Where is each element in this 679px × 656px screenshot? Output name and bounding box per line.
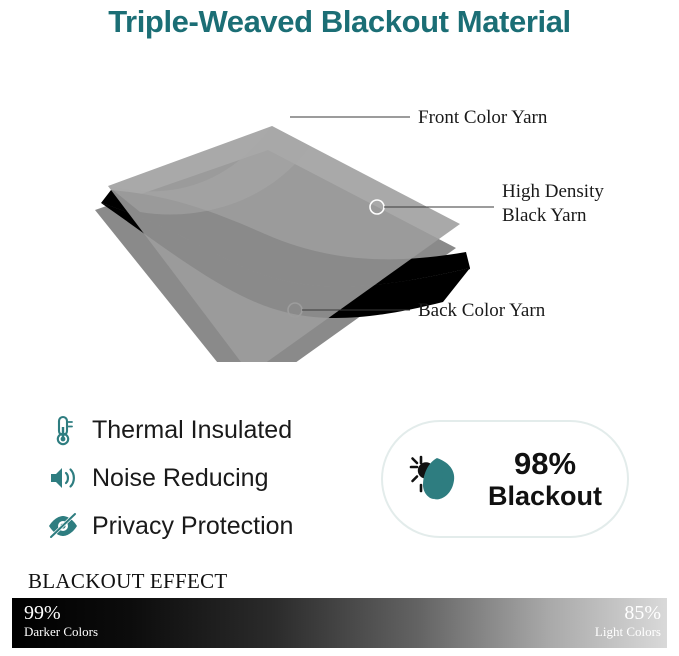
feature-thermal-insulated: Thermal Insulated	[46, 408, 396, 452]
right-sub-label: Light Colors	[595, 625, 661, 640]
fabric-layers-diagram: Front Color Yarn High Density Black Yarn…	[0, 62, 679, 362]
blackout-effect-left: 99% Darker Colors	[24, 602, 98, 640]
blackout-effect-gradient	[12, 598, 667, 648]
left-sub-label: Darker Colors	[24, 625, 98, 640]
blackout-badge-text: 98% Blackout	[479, 447, 627, 512]
feature-privacy-protection: Privacy Protection	[46, 504, 396, 548]
blackout-effect-right: 85% Light Colors	[595, 602, 661, 640]
page-title: Triple-Weaved Blackout Material	[0, 4, 679, 40]
feature-label: Privacy Protection	[92, 512, 293, 541]
left-percent: 99%	[24, 602, 98, 625]
callout-front	[276, 110, 410, 124]
thermometer-icon	[46, 413, 80, 447]
sun-blocked-icon	[405, 446, 471, 512]
feature-noise-reducing: Noise Reducing	[46, 456, 396, 500]
speaker-icon	[46, 461, 80, 495]
feature-label: Noise Reducing	[92, 464, 269, 493]
blackout-word: Blackout	[488, 481, 602, 511]
callout-label-front: Front Color Yarn	[418, 106, 547, 130]
callout-label-high-density: High Density Black Yarn	[502, 180, 604, 228]
blackout-percent: 98%	[514, 446, 576, 481]
eye-slash-icon	[46, 509, 80, 543]
callout-label-back: Back Color Yarn	[418, 299, 545, 323]
right-percent: 85%	[595, 602, 661, 625]
blackout-badge: 98% Blackout	[381, 420, 629, 538]
feature-label: Thermal Insulated	[92, 416, 292, 445]
feature-list: Thermal Insulated Noise Reducing Privacy…	[46, 408, 396, 552]
blackout-effect-title: BLACKOUT EFFECT	[28, 569, 228, 594]
